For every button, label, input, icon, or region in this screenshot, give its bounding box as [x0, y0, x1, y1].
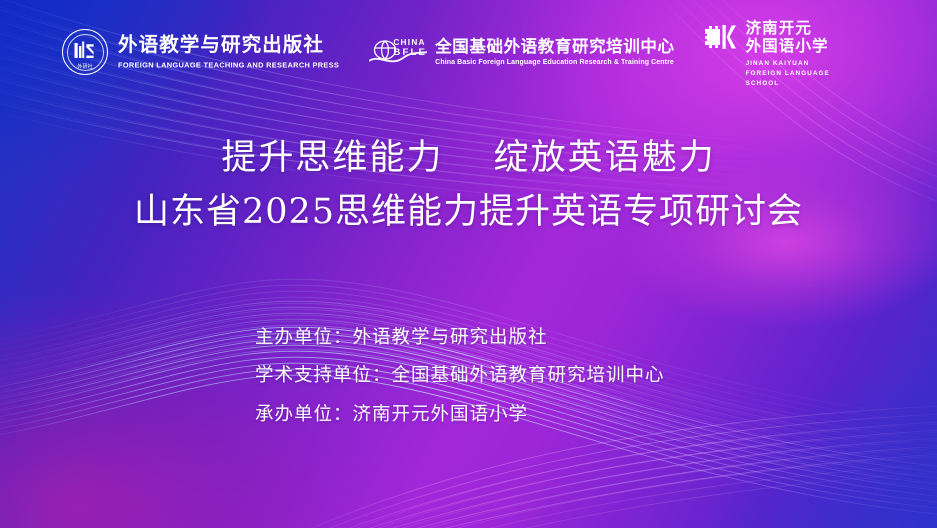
fltrp-seal-icon: 外研社	[62, 29, 108, 75]
logo-kaiyuan-name-en-3: SCHOOL	[746, 79, 830, 89]
title-line-1-part-2: 绽放英语魅力	[494, 138, 716, 178]
fltrp-seal-label: 外研社	[63, 65, 107, 70]
logo-bfle-mark-line2: BFLE	[393, 48, 427, 58]
logo-kaiyuan-name-en-1: JINAN KAIYUAN	[746, 59, 830, 69]
logo-fltrp: 外研社 外语教学与研究出版社 FOREIGN LANGUAGE TEACHING…	[62, 29, 339, 75]
logo-bfle: CHINA BFLE 全国基础外语教育研究培训中心 China Basic Fo…	[369, 35, 674, 69]
logo-fltrp-text: 外语教学与研究出版社 FOREIGN LANGUAGE TEACHING AND…	[118, 35, 339, 68]
logo-bfle-name-cn: 全国基础外语教育研究培训中心	[435, 38, 674, 56]
china-bfle-globe-icon: CHINA BFLE	[369, 35, 427, 69]
conference-title-slide: 外研社 外语教学与研究出版社 FOREIGN LANGUAGE TEACHING…	[0, 0, 937, 528]
organizer-host: 主办单位：外语教学与研究出版社	[255, 328, 665, 348]
logo-kaiyuan: 济南开元 外国语小学 JINAN KAIYUAN FOREIGN LANGUAG…	[703, 16, 830, 88]
logo-bfle-mark-text: CHINA BFLE	[393, 39, 427, 58]
logo-fltrp-name-cn: 外语教学与研究出版社	[118, 35, 339, 56]
logo-kaiyuan-name-en: JINAN KAIYUAN FOREIGN LANGUAGE SCHOOL	[746, 59, 830, 88]
title-line-2: 山东省2025思维能力提升英语专项研讨会	[0, 190, 937, 235]
sponsor-logo-bar: 外研社 外语教学与研究出版社 FOREIGN LANGUAGE TEACHING…	[0, 16, 937, 88]
organizer-co-host: 承办单位：济南开元外国语小学	[255, 405, 665, 425]
title-line-1-part-1: 提升思维能力	[221, 138, 443, 178]
logo-kaiyuan-name-cn-1: 济南开元	[746, 20, 830, 38]
logo-kaiyuan-name-en-2: FOREIGN LANGUAGE	[746, 69, 830, 79]
logo-bfle-name-en: China Basic Foreign Language Education R…	[435, 59, 674, 66]
logo-kaiyuan-text: 济南开元 外国语小学 JINAN KAIYUAN FOREIGN LANGUAG…	[746, 20, 830, 88]
logo-bfle-text: 全国基础外语教育研究培训中心 China Basic Foreign Langu…	[435, 38, 674, 66]
logo-fltrp-name-en: FOREIGN LANGUAGE TEACHING AND RESEARCH P…	[118, 60, 339, 69]
organizer-list: 主办单位：外语教学与研究出版社 学术支持单位：全国基础外语教育研究培训中心 承办…	[255, 328, 665, 425]
slide-title: 提升思维能力 绽放英语魅力 山东省2025思维能力提升英语专项研讨会	[0, 136, 937, 235]
organizer-academic-support: 学术支持单位：全国基础外语教育研究培训中心	[255, 366, 665, 386]
logo-kaiyuan-name-cn-2: 外国语小学	[746, 38, 830, 56]
kaiyuan-school-icon	[703, 20, 737, 54]
title-line-1: 提升思维能力 绽放英语魅力	[0, 136, 937, 181]
